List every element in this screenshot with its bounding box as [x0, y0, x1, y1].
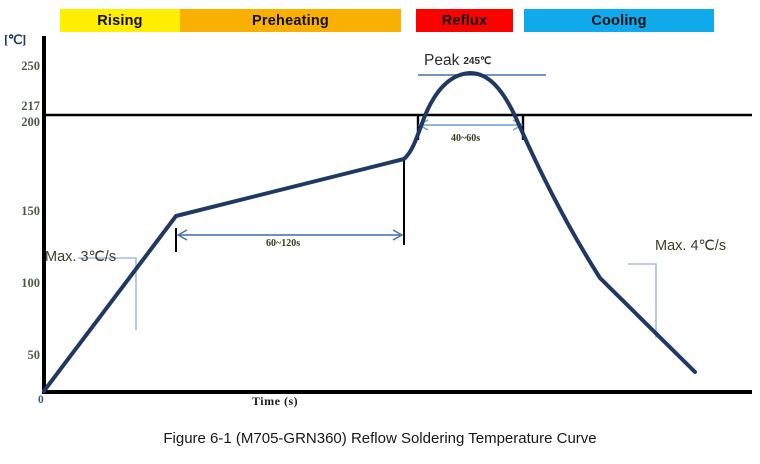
temperature-profile-curve — [44, 73, 695, 391]
peak-annotation: Peak245℃ — [424, 52, 491, 70]
peak-label: Peak — [424, 52, 459, 69]
rise-slope-guide — [78, 258, 136, 330]
peak-temperature-value: 245℃ — [463, 56, 491, 67]
figure-caption: Figure 6-1 (M705-GRN360) Reflow Solderin… — [0, 430, 760, 447]
reflux-duration-arrow — [419, 120, 522, 130]
reflux-duration-label: 40~60s — [451, 133, 480, 144]
preheat-duration-label: 60~120s — [266, 238, 300, 249]
reflow-curve-figure: Rising Preheating Reflux Cooling [℃] 250… — [0, 0, 760, 464]
max-rise-rate-annotation: Max. 3℃/s — [45, 249, 116, 265]
plot-canvas — [0, 0, 760, 464]
max-cool-rate-annotation: Max. 4℃/s — [655, 238, 726, 254]
